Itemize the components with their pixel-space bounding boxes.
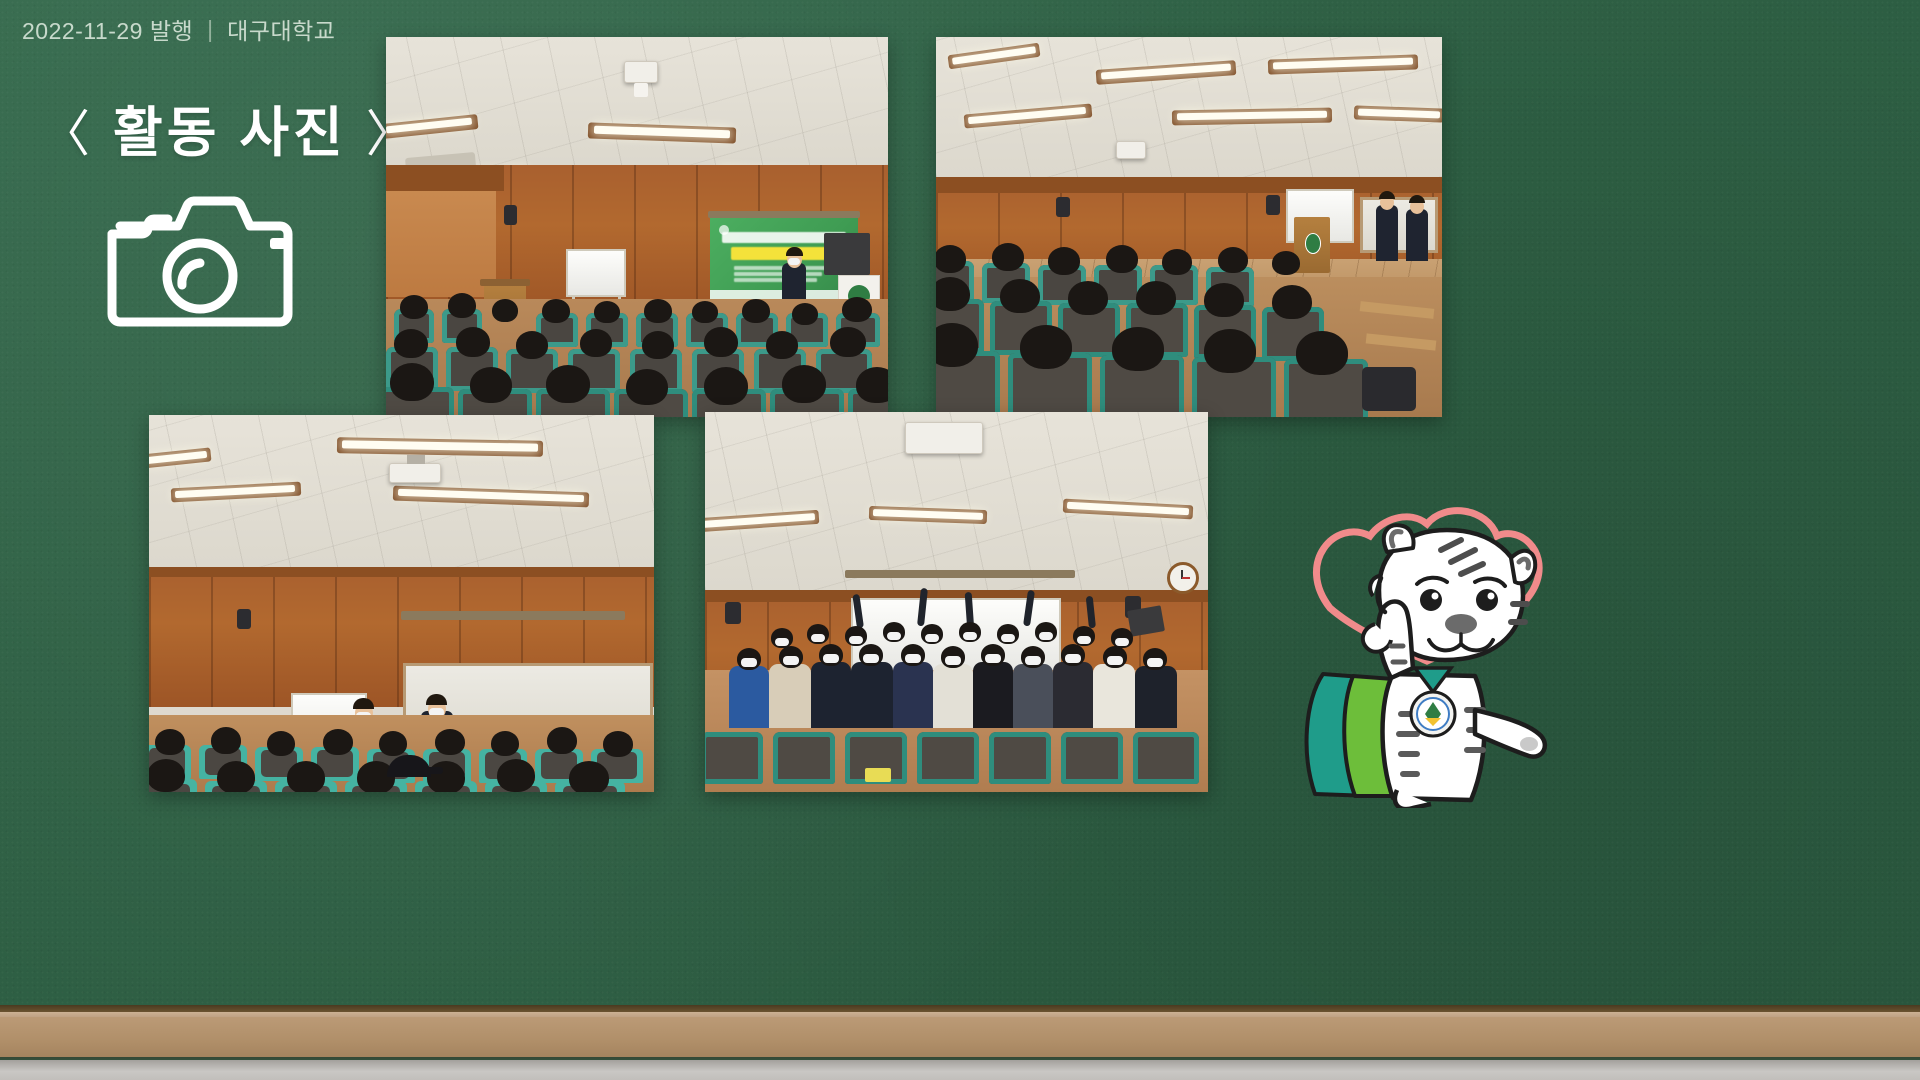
ceiling-projector — [905, 422, 983, 454]
mascot-nose — [1445, 614, 1477, 634]
chalk-ledge — [0, 1005, 1920, 1080]
mascot-emblem — [1411, 692, 1455, 736]
mascot-eye-left — [1420, 589, 1442, 611]
header-separator: | — [207, 16, 213, 43]
activity-photo-3[interactable] — [149, 415, 654, 792]
header: 2022-11-29 발행 | 대구대학교 — [22, 12, 335, 46]
activity-photo-1[interactable] — [386, 37, 888, 417]
white-tiger-mascot — [1275, 478, 1575, 808]
organization-name: 대구대학교 — [227, 12, 335, 46]
title-bracket-open: 〈 — [40, 106, 94, 162]
page-title: 〈 활동 사진 〉 — [40, 88, 370, 167]
ceiling-projector — [624, 61, 658, 83]
camera-icon — [100, 186, 300, 336]
title-text: 활동 사진 — [113, 103, 347, 163]
activity-photo-4[interactable] — [705, 412, 1208, 792]
activity-photo-2[interactable] — [936, 37, 1442, 417]
mascot-eye-right — [1476, 589, 1498, 611]
publish-date: 2022-11-29 발행 — [22, 12, 193, 46]
ceiling-projector — [389, 463, 441, 483]
floor — [0, 1060, 1920, 1080]
